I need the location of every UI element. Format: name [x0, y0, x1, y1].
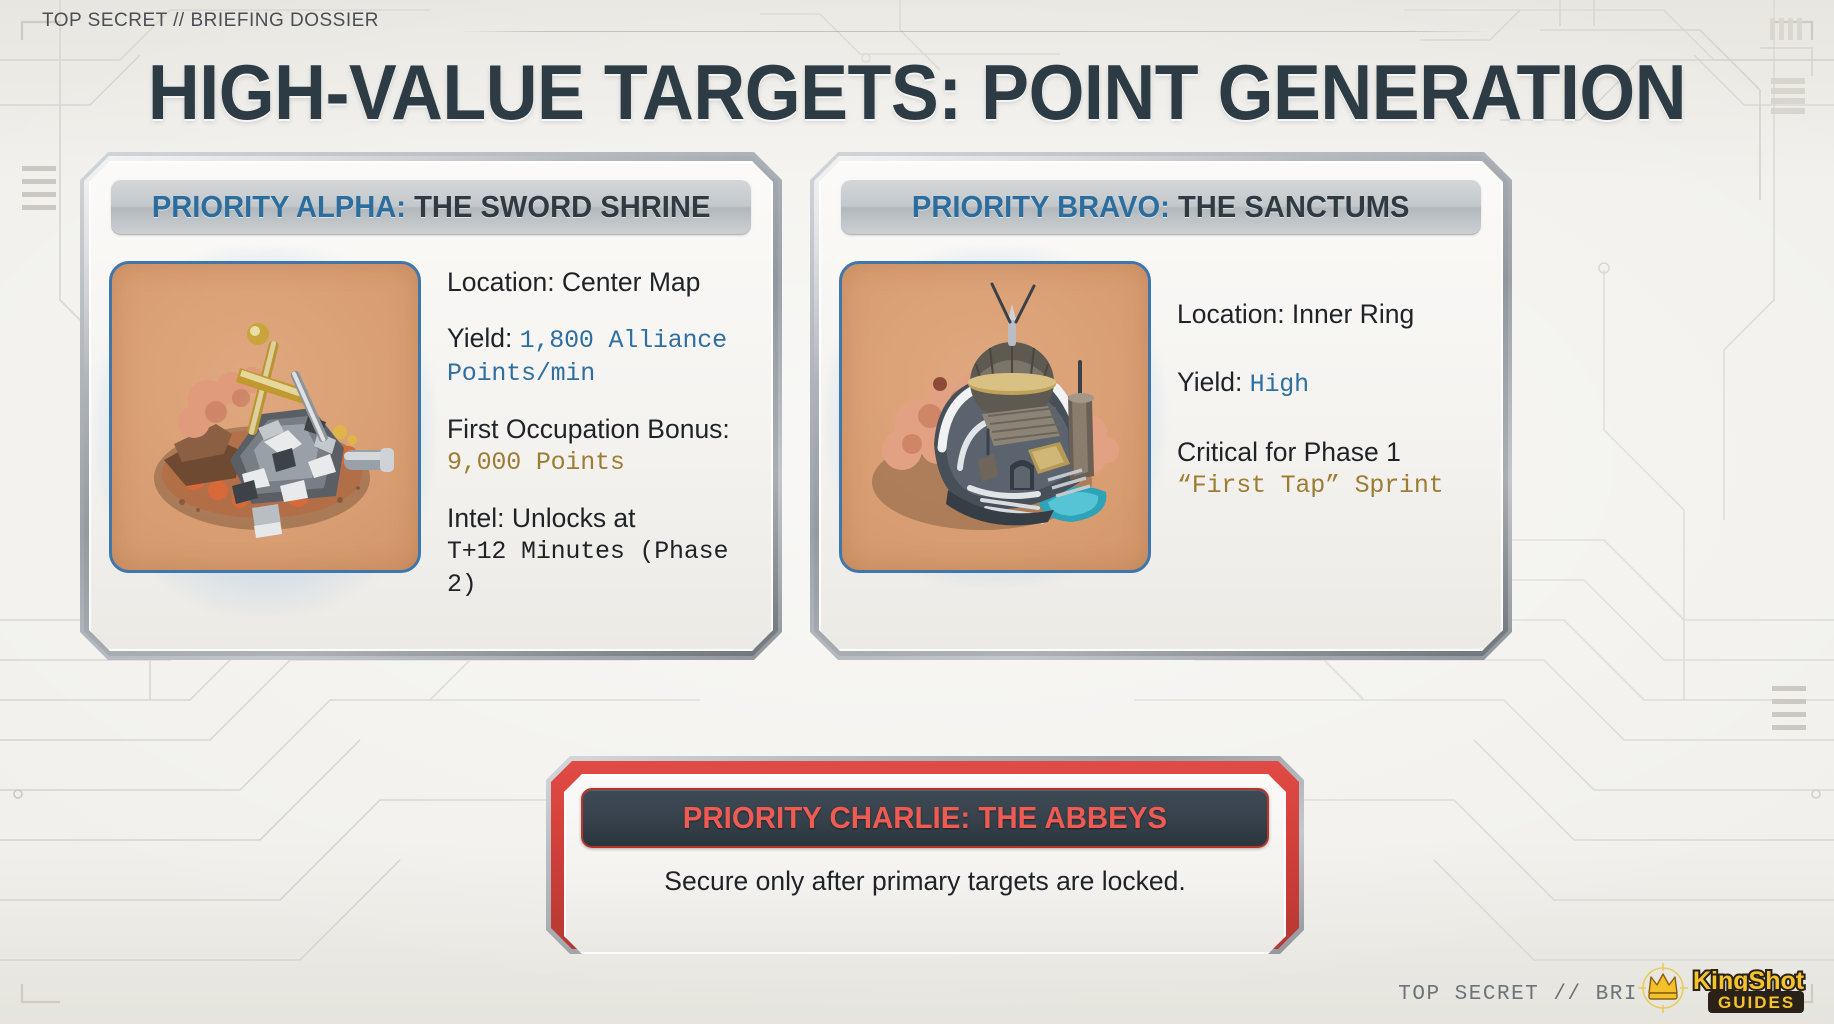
fact-location-alpha: Location: Center Map — [447, 267, 753, 298]
card-header-main-bravo: THE SANCTUMS — [1178, 189, 1410, 224]
card-header-alpha: PRIORITY ALPHA: THE SWORD SHRINE — [111, 179, 751, 235]
kingshot-guides-logo: KingShot GUIDES — [1636, 959, 1824, 1017]
card-priority-alpha[interactable]: PRIORITY ALPHA: THE SWORD SHRINE — [80, 152, 782, 660]
fact-value: “First Tap” Sprint — [1177, 471, 1443, 500]
fact-critical-phase-bravo: Critical for Phase 1 “First Tap” Sprint — [1177, 437, 1483, 501]
charlie-header: PRIORITY CHARLIE: THE ABBEYS — [581, 788, 1269, 848]
fact-location-bravo: Location: Inner Ring — [1177, 299, 1483, 330]
fact-value: T+12 Minutes (Phase 2) — [447, 537, 728, 599]
thumbnail-wrap-bravo[interactable] — [839, 261, 1151, 573]
logo-secondary-text: GUIDES — [1718, 993, 1795, 1012]
fact-label: Critical for Phase 1 — [1177, 437, 1401, 467]
fact-label: First Occupation Bonus: — [447, 414, 730, 444]
fact-value: 9,000 Points — [447, 448, 625, 477]
charlie-note: Secure only after primary targets are lo… — [581, 866, 1269, 897]
facts-list-bravo: Location: Inner Ring Yield: High Critica… — [1177, 261, 1483, 573]
fact-label: Yield: — [447, 323, 520, 353]
footer-classification: TOP SECRET // BRI — [1398, 983, 1638, 1006]
fact-yield-alpha: Yield: 1,800 Alliance Points/min — [447, 323, 753, 389]
header-rule — [460, 31, 1490, 32]
fact-label: Intel: Unlocks at — [447, 503, 636, 533]
card-header-bravo: PRIORITY BRAVO: THE SANCTUMS — [841, 179, 1481, 235]
card-header-accent-bravo: PRIORITY BRAVO: — [912, 189, 1170, 224]
thumbnail-wrap-alpha[interactable] — [109, 261, 421, 600]
page-title: HIGH-VALUE TARGETS: POINT GENERATION — [73, 52, 1760, 132]
fact-label: Location: Inner Ring — [1177, 299, 1414, 329]
fact-intel-alpha: Intel: Unlocks at T+12 Minutes (Phase 2) — [447, 503, 753, 600]
thumbnail-sanctum[interactable] — [839, 261, 1151, 573]
fact-first-occupation-bonus-alpha: First Occupation Bonus: 9,000 Points — [447, 414, 753, 478]
fact-yield-bravo: Yield: High — [1177, 367, 1483, 400]
thumbnail-sword-shrine[interactable] — [109, 261, 421, 573]
facts-list-alpha: Location: Center Map Yield: 1,800 Allian… — [447, 261, 753, 600]
card-header-accent-alpha: PRIORITY ALPHA: — [152, 189, 406, 224]
card-header-main-alpha: THE SWORD SHRINE — [414, 189, 710, 224]
fact-label: Location: Center Map — [447, 267, 700, 297]
logo-primary-text: KingShot — [1693, 967, 1805, 995]
banner-priority-charlie[interactable]: PRIORITY CHARLIE: THE ABBEYS Secure only… — [546, 756, 1304, 954]
fact-label: Yield: — [1177, 367, 1250, 397]
classification-banner: TOP SECRET // BRIEFING DOSSIER — [42, 10, 379, 32]
fact-value: High — [1250, 370, 1309, 399]
charlie-header-text: PRIORITY CHARLIE: THE ABBEYS — [683, 800, 1167, 836]
card-priority-bravo[interactable]: PRIORITY BRAVO: THE SANCTUMS — [810, 152, 1512, 660]
